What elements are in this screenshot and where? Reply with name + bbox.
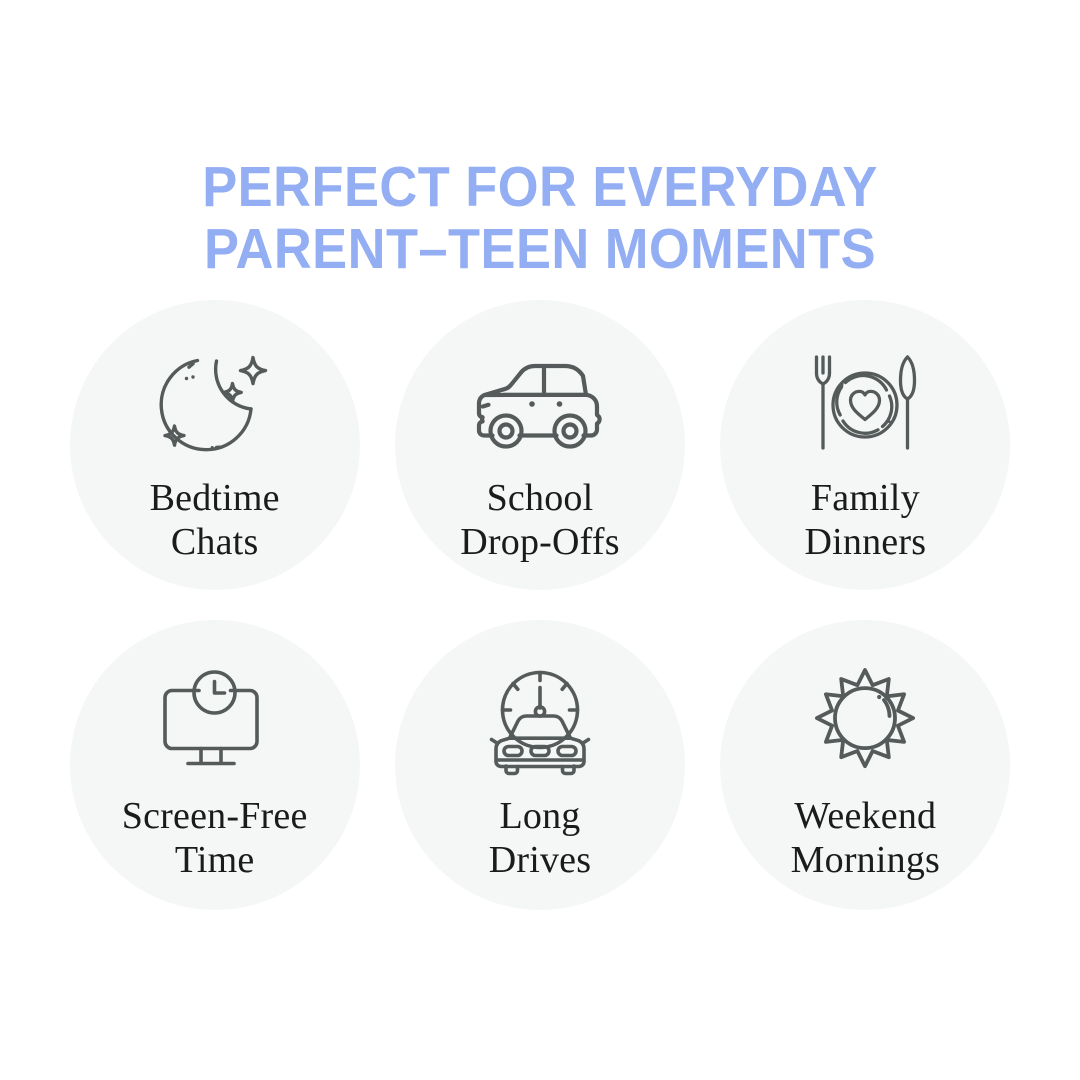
feature-cell: Weekend Mornings	[703, 620, 1028, 940]
feature-cell: Screen-Free Time	[52, 620, 377, 940]
car-front-speedometer-icon	[476, 664, 604, 780]
feature-card-family-dinners[interactable]: Family Dinners	[720, 300, 1010, 590]
feature-cell: Bedtime Chats	[52, 300, 377, 620]
feature-card-screen-free-time[interactable]: Screen-Free Time	[70, 620, 360, 910]
page-title: PERFECT FOR EVERYDAY PARENT–TEEN MOMENTS	[43, 156, 1037, 280]
feature-label: Family Dinners	[804, 476, 926, 564]
feature-cell: Long Drives	[377, 620, 702, 940]
feature-label: Screen-Free Time	[122, 794, 308, 882]
feature-label: Weekend Mornings	[791, 794, 940, 882]
feature-label: School Drop-Offs	[460, 476, 619, 564]
feature-card-weekend-mornings[interactable]: Weekend Mornings	[720, 620, 1010, 910]
feature-card-long-drives[interactable]: Long Drives	[395, 620, 685, 910]
infographic-page: PERFECT FOR EVERYDAY PARENT–TEEN MOMENTS	[0, 0, 1080, 1080]
car-side-icon	[476, 344, 604, 462]
feature-cell: Family Dinners	[703, 300, 1028, 620]
feature-grid: Bedtime Chats	[52, 300, 1028, 940]
sun-icon	[801, 664, 929, 780]
monitor-clock-icon	[151, 664, 279, 780]
feature-label: Long Drives	[489, 794, 592, 882]
moon-stars-icon	[151, 344, 279, 462]
feature-card-bedtime-chats[interactable]: Bedtime Chats	[70, 300, 360, 590]
feature-card-school-drop-offs[interactable]: School Drop-Offs	[395, 300, 685, 590]
feature-label: Bedtime Chats	[150, 476, 280, 564]
plate-heart-cutlery-icon	[801, 344, 929, 462]
feature-cell: School Drop-Offs	[377, 300, 702, 620]
